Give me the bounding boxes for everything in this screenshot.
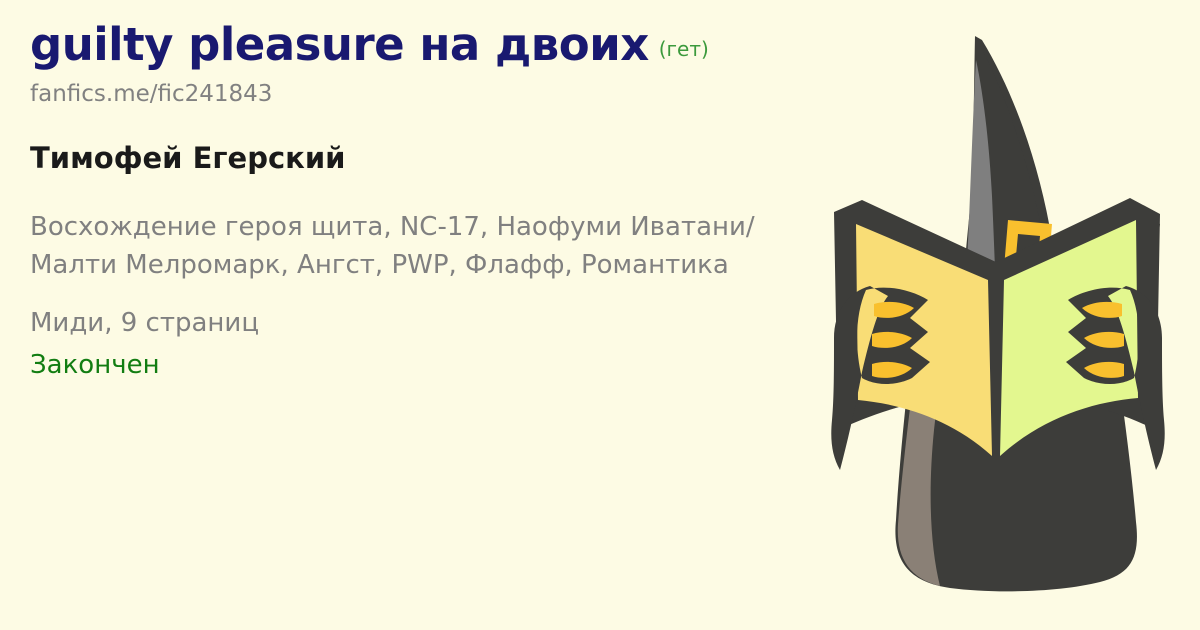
source-url[interactable]: fanfics.me/fic241843 — [30, 81, 840, 107]
wizard-reading-book-illustration — [800, 0, 1200, 630]
genre-badge: (гет) — [659, 37, 709, 61]
title-row: guilty pleasure на двоих(гет) — [30, 22, 840, 67]
fanfic-preview-card: guilty pleasure на двоих(гет) fanfics.me… — [0, 0, 1200, 630]
text-column: guilty pleasure на двоих(гет) fanfics.me… — [30, 22, 840, 384]
size-and-pages: Миди, 9 страниц — [30, 304, 840, 342]
author-name[interactable]: Тимофей Егерский — [30, 141, 840, 175]
page-title: guilty pleasure на двоих — [30, 18, 649, 71]
fandom-tags: Восхождение героя щита, NC-17, Наофуми И… — [30, 208, 820, 284]
status-badge: Закончен — [30, 346, 840, 384]
book-spine-shape — [994, 276, 1000, 458]
